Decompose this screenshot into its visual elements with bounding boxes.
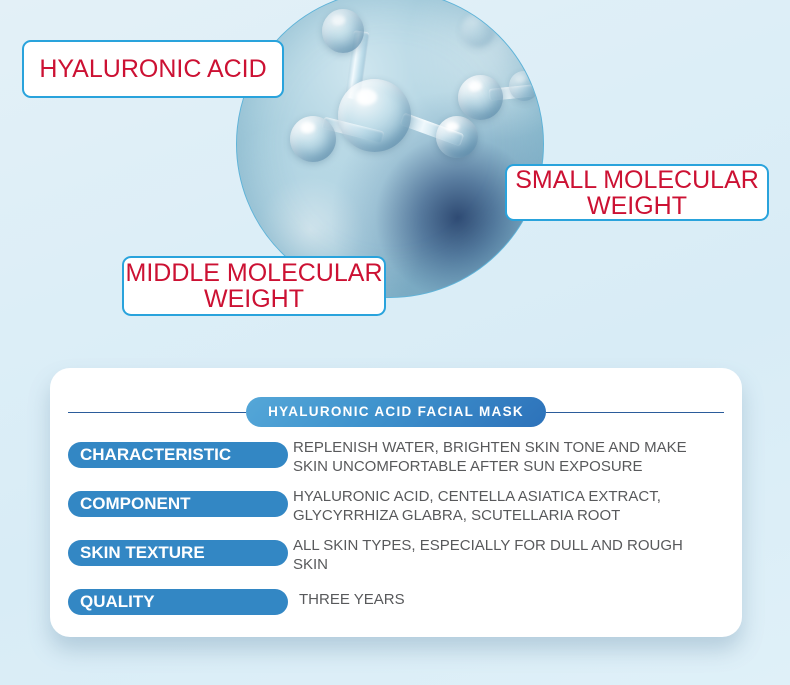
title-rule-left	[68, 412, 246, 413]
callout-label: HYALURONIC ACID	[39, 56, 266, 82]
molecule-atom	[509, 71, 539, 101]
table-row: CHARACTERISTIC REPLENISH WATER, BRIGHTEN…	[68, 438, 728, 487]
spec-table: CHARACTERISTIC REPLENISH WATER, BRIGHTEN…	[68, 438, 728, 625]
spec-label-component: COMPONENT	[68, 491, 288, 517]
molecule-bond	[344, 30, 369, 100]
hero-section: HYALURONIC ACID SMALL MOLECULAR WEIGHT M…	[0, 0, 790, 368]
spec-label-skin-texture: SKIN TEXTURE	[68, 540, 288, 566]
callout-middle-molecular-weight: MIDDLE MOLECULAR WEIGHT	[122, 256, 386, 316]
table-row: QUALITY THREE YEARS	[68, 585, 728, 625]
table-row: COMPONENT HYALURONIC ACID, CENTELLA ASIA…	[68, 487, 728, 536]
molecule-bond	[400, 112, 465, 146]
callout-small-molecular-weight: SMALL MOLECULAR WEIGHT	[505, 164, 769, 221]
panel-title-row: HYALURONIC ACID FACIAL MASK	[68, 397, 724, 427]
title-rule-right	[546, 412, 724, 413]
callout-label: SMALL MOLECULAR WEIGHT	[507, 167, 767, 219]
spec-value-quality: THREE YEARS	[293, 590, 731, 609]
spec-value-skin-texture: ALL SKIN TYPES, ESPECIALLY FOR DULL AND …	[293, 536, 725, 574]
molecule-atom	[322, 9, 364, 53]
product-info-panel: HYALURONIC ACID FACIAL MASK CHARACTERIST…	[50, 368, 742, 637]
spec-label-quality: QUALITY	[68, 589, 288, 615]
callout-hyaluronic-acid: HYALURONIC ACID	[22, 40, 284, 98]
molecule-atom	[461, 13, 495, 47]
spec-label-characteristic: CHARACTERISTIC	[68, 442, 288, 468]
molecule-atom	[338, 79, 411, 152]
page-title: HYALURONIC ACID FACIAL MASK	[246, 397, 546, 427]
spec-value-characteristic: REPLENISH WATER, BRIGHTEN SKIN TONE AND …	[293, 438, 725, 476]
table-row: SKIN TEXTURE ALL SKIN TYPES, ESPECIALLY …	[68, 536, 728, 585]
molecule-atom	[436, 116, 478, 158]
spec-value-component: HYALURONIC ACID, CENTELLA ASIATICA EXTRA…	[293, 487, 725, 525]
molecule-atom	[290, 116, 336, 162]
callout-label: MIDDLE MOLECULAR WEIGHT	[124, 260, 384, 312]
molecule-bond	[321, 117, 384, 144]
molecule-atom	[458, 75, 503, 120]
